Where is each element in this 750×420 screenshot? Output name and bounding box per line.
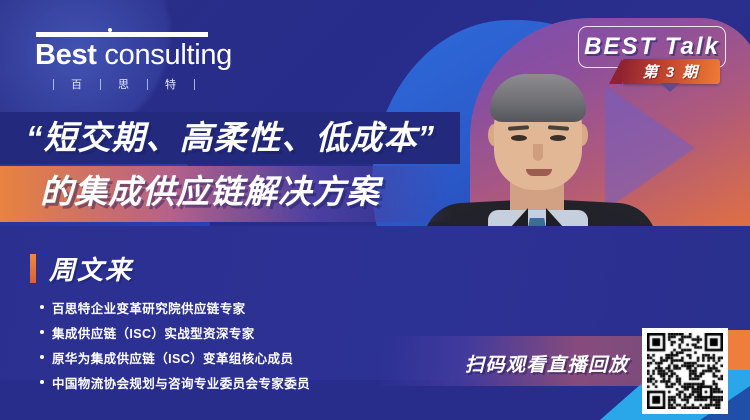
logo-divider <box>100 79 101 90</box>
mouth <box>526 169 552 176</box>
logo-cn-char-1: 百 <box>71 76 83 92</box>
speaker-name-row: 周文来 <box>30 250 133 287</box>
list-item: 中国物流协会规划与咨询专业委员会专家委员 <box>40 371 370 393</box>
logo-chinese-name: 百 思 特 <box>36 76 230 92</box>
qr-code[interactable] <box>642 328 728 414</box>
brand-logo[interactable]: Best consulting 百 思 特 <box>30 32 230 92</box>
episode-label: 第 3 期 <box>643 61 700 82</box>
credential-text: 集成供应链（ISC）实战型资深专家 <box>52 323 255 342</box>
hair <box>490 74 586 122</box>
headline-line-2: 的集成供应链解决方案 <box>26 164 496 220</box>
nose <box>533 144 543 161</box>
logo-cn-char-2: 思 <box>118 76 130 92</box>
bullet-dot-icon <box>40 305 44 309</box>
logo-dot <box>108 28 112 32</box>
accent-bar <box>30 254 36 283</box>
list-item: 百思特企业变革研究院供应链专家 <box>40 296 370 318</box>
logo-word-best: Best <box>35 39 97 71</box>
bullet-dot-icon <box>40 380 44 384</box>
eye-left <box>511 135 527 141</box>
logo-top-bar <box>36 32 208 37</box>
list-item: 集成供应链（ISC）实战型资深专家 <box>40 321 370 343</box>
logo-divider <box>53 79 54 90</box>
list-item: 原华为集成供应链（ISC）变革组核心成员 <box>40 346 370 368</box>
credentials-list: 百思特企业变革研究院供应链专家 集成供应链（ISC）实战型资深专家 原华为集成供… <box>40 296 370 396</box>
episode-ribbon: 第 3 期 <box>622 59 720 84</box>
best-talk-label: BEST Talk <box>584 33 720 61</box>
headline: “短交期、高柔性、低成本” 的集成供应链解决方案 <box>26 112 496 220</box>
logo-divider <box>194 79 195 90</box>
bullet-dot-icon <box>40 330 44 334</box>
logo-word-consulting: consulting <box>97 39 232 71</box>
headline-line-1: “短交期、高柔性、低成本” <box>26 112 496 164</box>
credential-text: 百思特企业变革研究院供应链专家 <box>52 298 246 317</box>
logo-cn-char-3: 特 <box>165 76 177 92</box>
qr-code-image <box>647 333 723 409</box>
logo-wordmark: Best consulting <box>35 39 230 71</box>
bullet-dot-icon <box>40 355 44 359</box>
promo-banner: Best consulting 百 思 特 BEST Talk 第 3 期 “短… <box>0 0 750 420</box>
scan-cta-label: 扫码观看直播回放 <box>465 350 629 377</box>
speaker-name: 周文来 <box>49 250 133 287</box>
eye-right <box>550 135 566 141</box>
logo-divider <box>147 79 148 90</box>
credential-text: 中国物流协会规划与咨询专业委员会专家委员 <box>52 373 310 392</box>
credential-text: 原华为集成供应链（ISC）变革组核心成员 <box>52 348 293 367</box>
